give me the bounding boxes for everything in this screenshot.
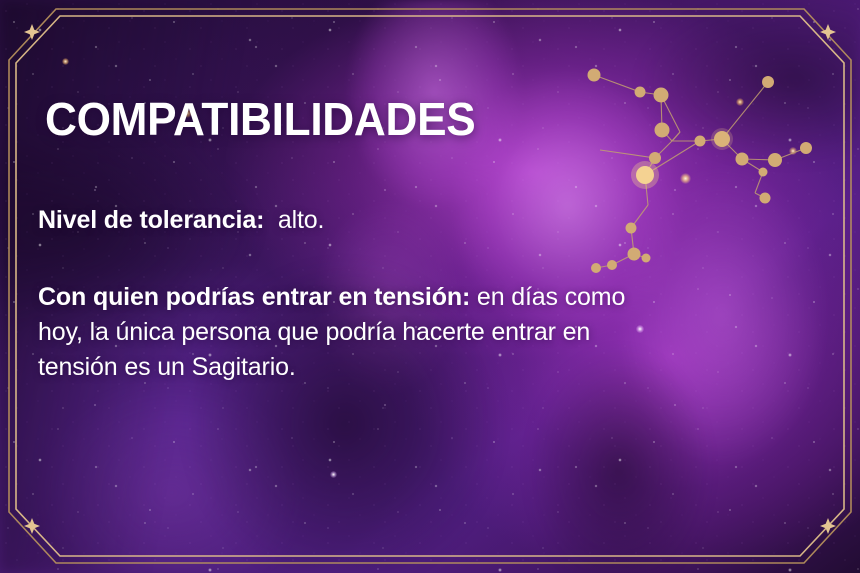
tension-line1-rest: en días como bbox=[470, 283, 625, 311]
tension-line-2: hoy, la única persona que podría hacerte… bbox=[38, 318, 590, 347]
tolerance-label: Nivel de tolerancia: bbox=[38, 206, 264, 234]
horoscope-compatibility-card: COMPATIBILIDADES Nivel de tolerancia: al… bbox=[0, 0, 860, 573]
tension-line-3: tensión es un Sagitario. bbox=[38, 353, 296, 382]
tolerance-line: Nivel de tolerancia: alto. bbox=[38, 206, 324, 235]
tension-line-1: Con quien podrías entrar en tensión: en … bbox=[38, 283, 625, 312]
tolerance-value: alto. bbox=[278, 206, 325, 234]
tension-label: Con quien podrías entrar en tensión: bbox=[38, 283, 470, 311]
card-text-content: COMPATIBILIDADES Nivel de tolerancia: al… bbox=[0, 0, 860, 573]
page-title: COMPATIBILIDADES bbox=[45, 92, 475, 146]
